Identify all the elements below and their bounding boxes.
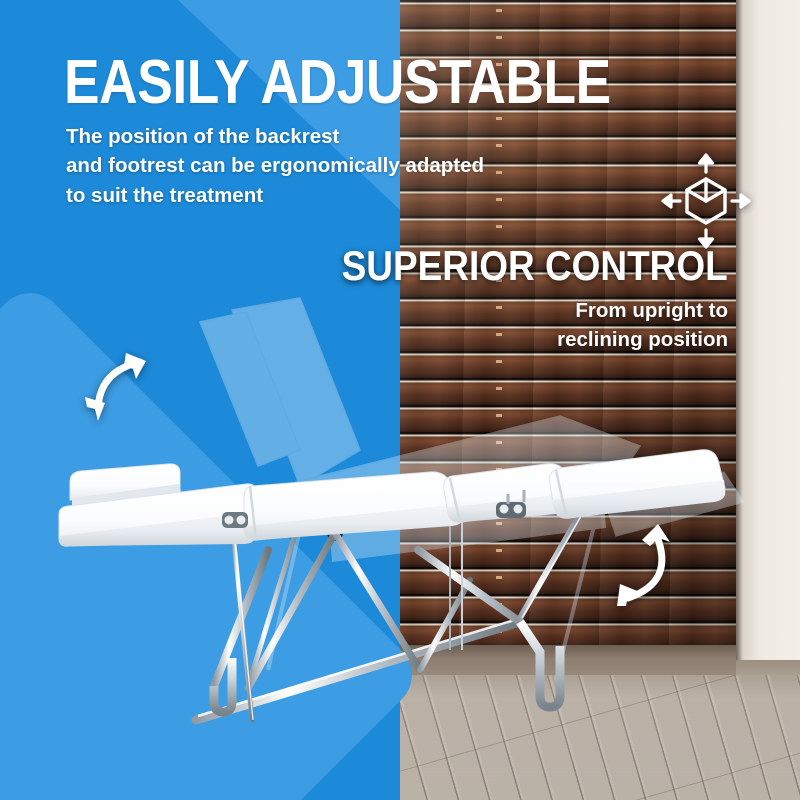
- right-subcopy: From upright to reclining position: [557, 296, 728, 355]
- cube-four-direction-arrows-icon: [656, 152, 756, 252]
- curved-double-arrow-icon-left: [78, 345, 164, 425]
- curved-double-arrow-icon-right: [614, 520, 704, 610]
- left-headline: EASILY ADJUSTABLE: [64, 52, 611, 114]
- product-feature-banner: EASILY ADJUSTABLE The position of the ba…: [0, 0, 800, 800]
- left-subcopy: The position of the backrest and footres…: [66, 122, 484, 210]
